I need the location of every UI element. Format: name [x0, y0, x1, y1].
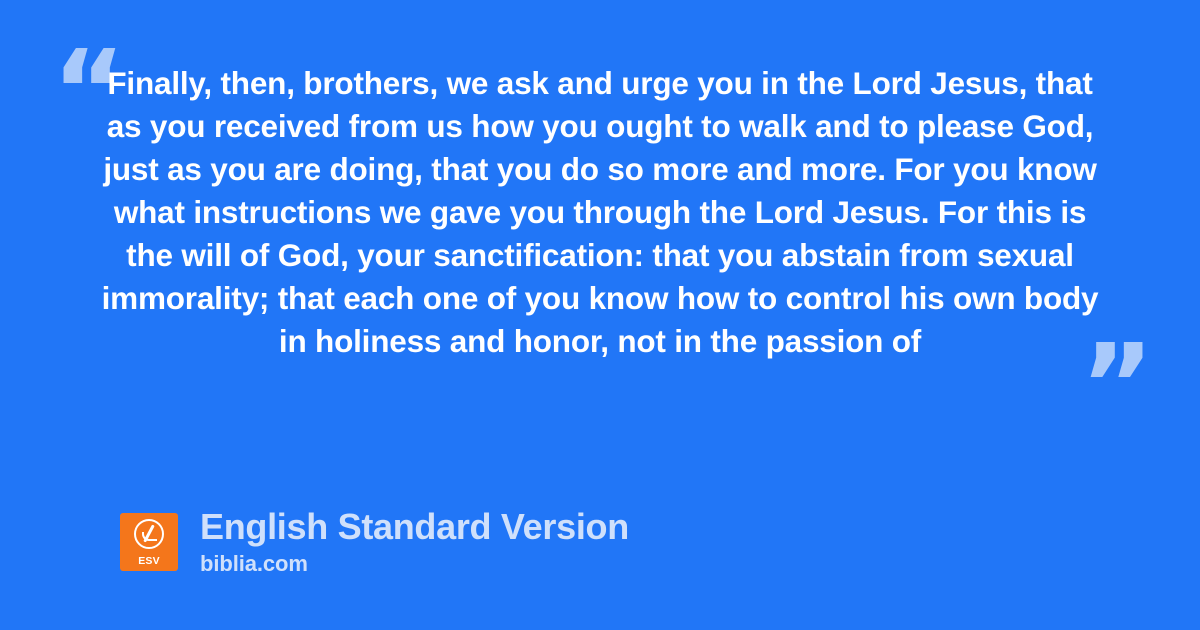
logos-bible-software-icon [134, 519, 164, 549]
esv-logo: ESV [120, 513, 178, 571]
footer-text: English Standard Version biblia.com [200, 506, 629, 578]
scripture-quote-text: Finally, then, brothers, we ask and urge… [100, 62, 1100, 363]
bible-version-name: English Standard Version [200, 506, 629, 548]
quote-card: “ Finally, then, brothers, we ask and ur… [0, 0, 1200, 630]
footer: ESV English Standard Version biblia.com [120, 506, 629, 578]
logo-label: ESV [120, 555, 178, 567]
closing-quote-icon: ” [1080, 330, 1152, 442]
site-url[interactable]: biblia.com [200, 550, 629, 578]
